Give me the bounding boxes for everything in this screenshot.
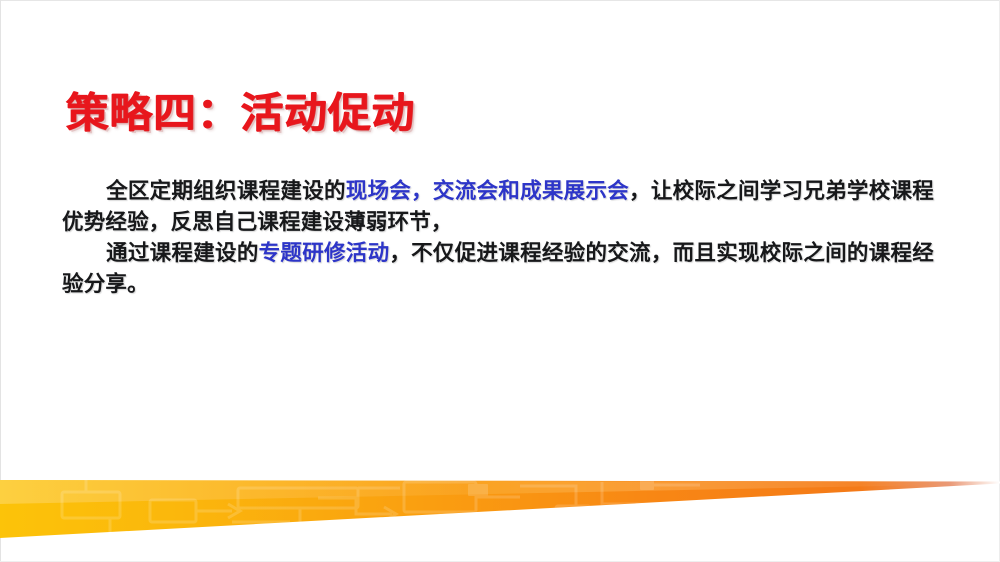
slide-edge-left (0, 0, 1, 562)
slide-canvas: 策略四：活动促动 全区定期组织课程建设的现场会，交流会和成果展示会，让校际之间学… (0, 0, 1000, 562)
p1-run-2-highlight: 现场会，交流会和成果展示会 (346, 179, 629, 204)
bottom-decoration (0, 452, 1000, 562)
orange-wedge-banner-icon (0, 452, 1000, 562)
body-paragraph-2: 通过课程建设的专题研修活动，不仅促进课程经验的交流，而且实现校际之间的课程经验分… (62, 238, 934, 300)
slide-edge-top (0, 0, 1000, 1)
p1-run-1: 全区定期组织课程建设的 (106, 179, 346, 204)
p2-run-1: 通过课程建设的 (106, 241, 259, 266)
slide-body: 全区定期组织课程建设的现场会，交流会和成果展示会，让校际之间学习兄弟学校课程优势… (62, 176, 934, 300)
slide-title: 策略四：活动促动 (66, 88, 586, 144)
slide-title-text: 策略四：活动促动 (66, 88, 607, 138)
p2-run-2-highlight: 专题研修活动 (259, 241, 390, 266)
body-paragraph-1: 全区定期组织课程建设的现场会，交流会和成果展示会，让校际之间学习兄弟学校课程优势… (62, 176, 934, 238)
